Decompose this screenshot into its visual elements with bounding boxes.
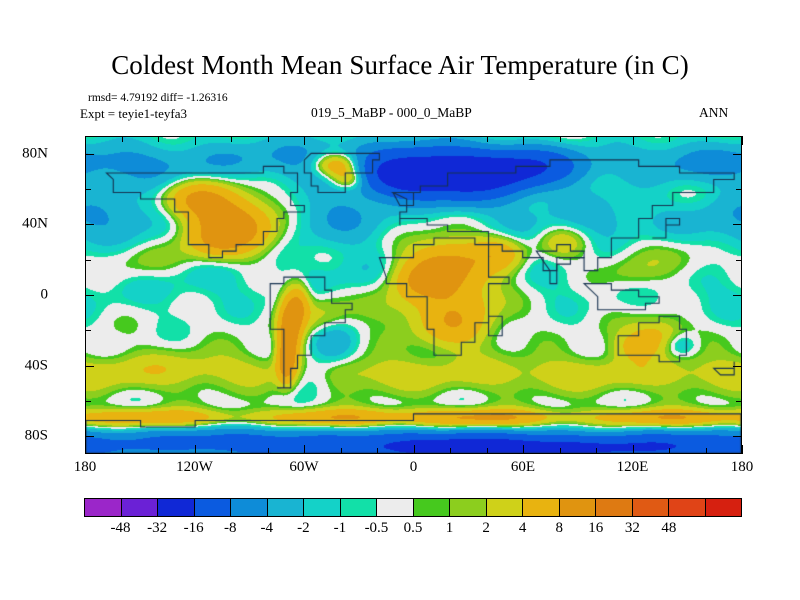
y-tick — [85, 295, 94, 296]
colorbar-cell-2 — [158, 499, 195, 516]
x-tick — [633, 136, 634, 145]
colorbar-cell-7 — [341, 499, 378, 516]
x-tick — [669, 448, 670, 454]
y-tick — [85, 366, 94, 367]
x-tick — [596, 136, 597, 142]
colorbar-cell-15 — [633, 499, 670, 516]
x-tick — [377, 448, 378, 454]
y-tick — [85, 189, 91, 190]
x-tick — [195, 445, 196, 454]
colorbar-cell-5 — [268, 499, 305, 516]
x-tick — [158, 448, 159, 454]
colorbar-cell-14 — [596, 499, 633, 516]
x-tick — [560, 448, 561, 454]
colorbar-cell-16 — [669, 499, 706, 516]
map-plot-area — [85, 136, 742, 454]
x-tick — [341, 136, 342, 142]
x-axis-label-1: 120W — [155, 459, 235, 476]
colorbar-cell-13 — [560, 499, 597, 516]
x-tick — [414, 136, 415, 145]
temperature-anomaly-raster — [86, 137, 741, 453]
x-axis-label-4: 60E — [483, 459, 563, 476]
x-tick — [158, 136, 159, 142]
x-tick — [268, 136, 269, 142]
y-axis-label-80N: 80N — [0, 145, 48, 162]
x-tick — [523, 136, 524, 145]
x-tick — [633, 445, 634, 454]
y-tick — [733, 154, 742, 155]
x-axis-label-2: 60W — [264, 459, 344, 476]
x-tick — [450, 136, 451, 142]
y-tick — [736, 401, 742, 402]
y-tick — [85, 154, 94, 155]
season-label: ANN — [699, 105, 728, 121]
x-axis-label-5: 120E — [593, 459, 673, 476]
x-tick — [122, 136, 123, 142]
colorbar — [84, 498, 742, 517]
colorbar-cell-8 — [377, 499, 414, 516]
y-tick — [85, 260, 91, 261]
x-tick — [231, 136, 232, 142]
case-id-label: 019_5_MaBP - 000_0_MaBP — [311, 105, 472, 121]
x-tick — [195, 136, 196, 145]
x-tick — [742, 136, 743, 145]
y-tick — [733, 295, 742, 296]
x-tick — [706, 136, 707, 142]
y-axis-label-0: 0 — [0, 287, 48, 304]
x-tick — [450, 448, 451, 454]
y-tick — [733, 224, 742, 225]
y-axis-label-40N: 40N — [0, 216, 48, 233]
colorbar-cell-11 — [487, 499, 524, 516]
colorbar-cell-12 — [523, 499, 560, 516]
x-tick — [487, 136, 488, 142]
x-tick — [560, 136, 561, 142]
x-tick — [304, 136, 305, 145]
experiment-label: Expt = teyie1-teyfa3 — [80, 106, 187, 122]
y-axis-label-40S: 40S — [0, 357, 48, 374]
x-tick — [304, 445, 305, 454]
y-tick — [736, 260, 742, 261]
x-tick — [742, 445, 743, 454]
colorbar-cell-9 — [414, 499, 451, 516]
climate-map-figure: Coldest Month Mean Surface Air Temperatu… — [0, 0, 800, 600]
x-axis-label-6: 180 — [702, 459, 782, 476]
colorbar-cell-1 — [122, 499, 159, 516]
x-axis-label-0: 180 — [45, 459, 125, 476]
rmsd-diff-annotation: rmsd= 4.79192 diff= -1.26316 — [88, 92, 228, 104]
y-tick — [736, 189, 742, 190]
x-tick — [523, 445, 524, 454]
x-tick — [231, 448, 232, 454]
y-tick — [733, 366, 742, 367]
page-title: Coldest Month Mean Surface Air Temperatu… — [0, 50, 800, 81]
y-axis-label-80S: 80S — [0, 428, 48, 445]
y-tick — [733, 436, 742, 437]
y-tick — [85, 436, 94, 437]
x-tick — [122, 448, 123, 454]
x-axis-label-3: 0 — [374, 459, 454, 476]
colorbar-cell-6 — [304, 499, 341, 516]
x-tick — [377, 136, 378, 142]
x-tick — [268, 448, 269, 454]
x-tick — [414, 445, 415, 454]
x-tick — [596, 448, 597, 454]
y-tick — [85, 224, 94, 225]
x-tick — [669, 136, 670, 142]
x-tick — [85, 445, 86, 454]
x-tick — [341, 448, 342, 454]
colorbar-cell-4 — [231, 499, 268, 516]
colorbar-tick-48: 48 — [639, 520, 699, 537]
x-tick — [487, 448, 488, 454]
y-tick — [736, 330, 742, 331]
colorbar-cell-3 — [195, 499, 232, 516]
y-tick — [85, 330, 91, 331]
x-tick — [706, 448, 707, 454]
colorbar-cell-0 — [85, 499, 122, 516]
x-tick — [85, 136, 86, 145]
colorbar-cell-10 — [450, 499, 487, 516]
y-tick — [85, 401, 91, 402]
colorbar-cell-17 — [706, 499, 742, 516]
